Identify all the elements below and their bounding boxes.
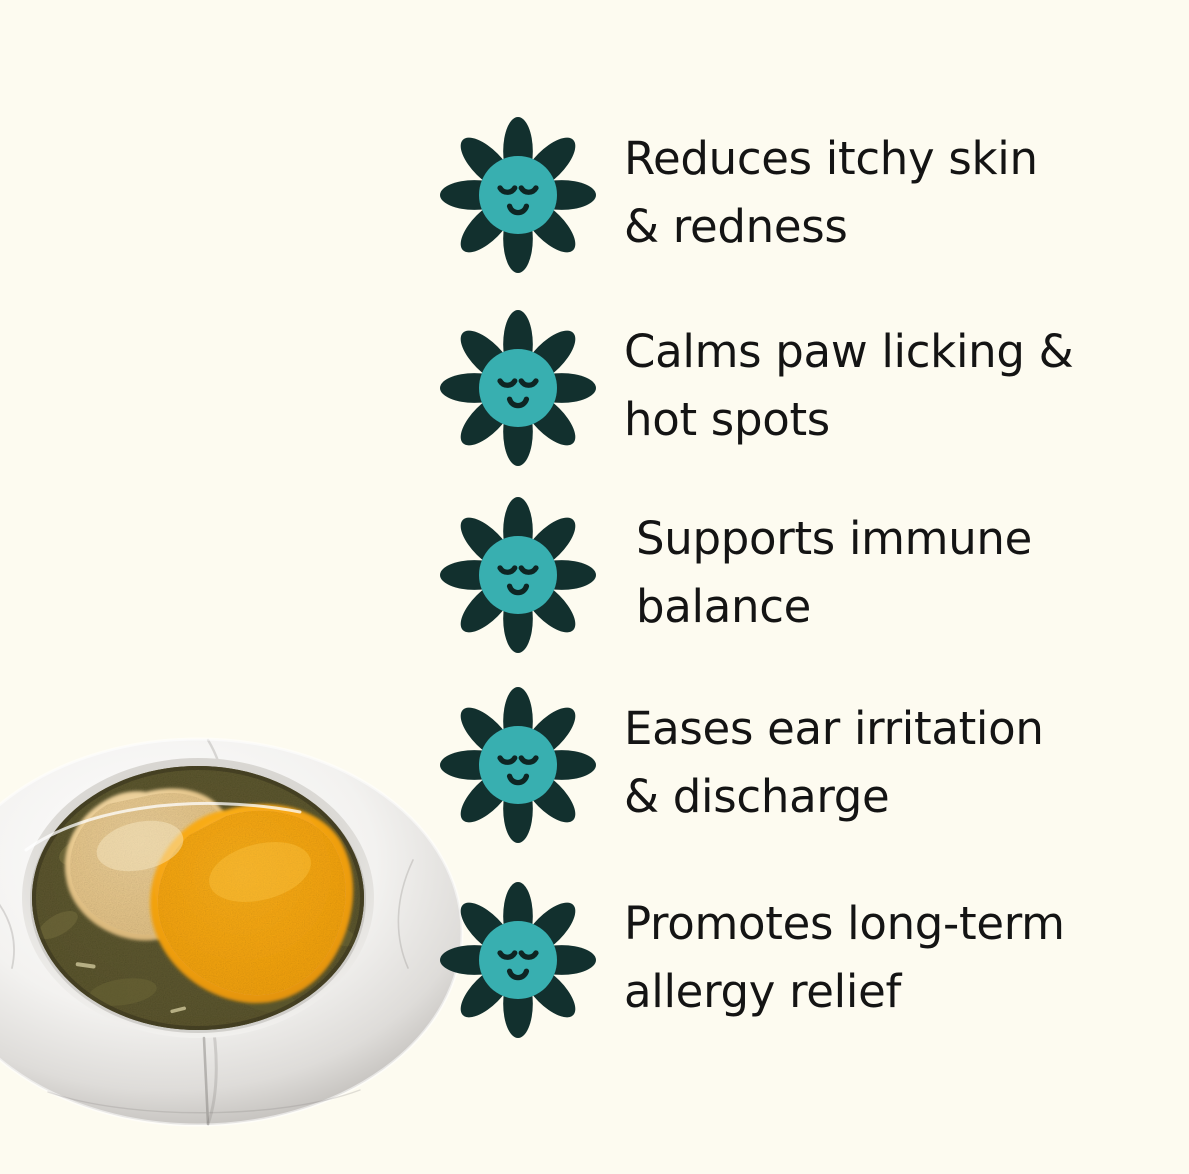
promo-graphic: Reduces itchy skin & redness [0,0,1189,1174]
benefit-label: Calms paw licking & hot spots [596,318,1189,455]
benefit-item-promotes-allergy-relief: Promotes long-term allergy relief [440,882,1189,1038]
sleepy-flower-icon [440,310,596,466]
benefit-item-calms-paw-licking: Calms paw licking & hot spots [440,310,1189,466]
sleepy-flower-icon [440,497,596,653]
benefit-label: Promotes long-term allergy relief [596,890,1189,1027]
benefit-label: Eases ear irritation & discharge [596,695,1189,832]
sleepy-flower-icon [440,117,596,273]
benefits-list: Reduces itchy skin & redness [440,0,1189,1174]
benefit-label: Supports immune balance [596,505,1189,642]
benefit-item-supports-immune-balance: Supports immune balance [440,497,1189,653]
benefit-item-reduces-itchy-skin: Reduces itchy skin & redness [440,117,1189,273]
sleepy-flower-icon [440,882,596,1038]
benefit-item-eases-ear-irritation: Eases ear irritation & discharge [440,687,1189,843]
sleepy-flower-icon [440,687,596,843]
benefit-label: Reduces itchy skin & redness [596,125,1189,262]
marble-bowl-of-herbs-photo [0,700,488,1140]
